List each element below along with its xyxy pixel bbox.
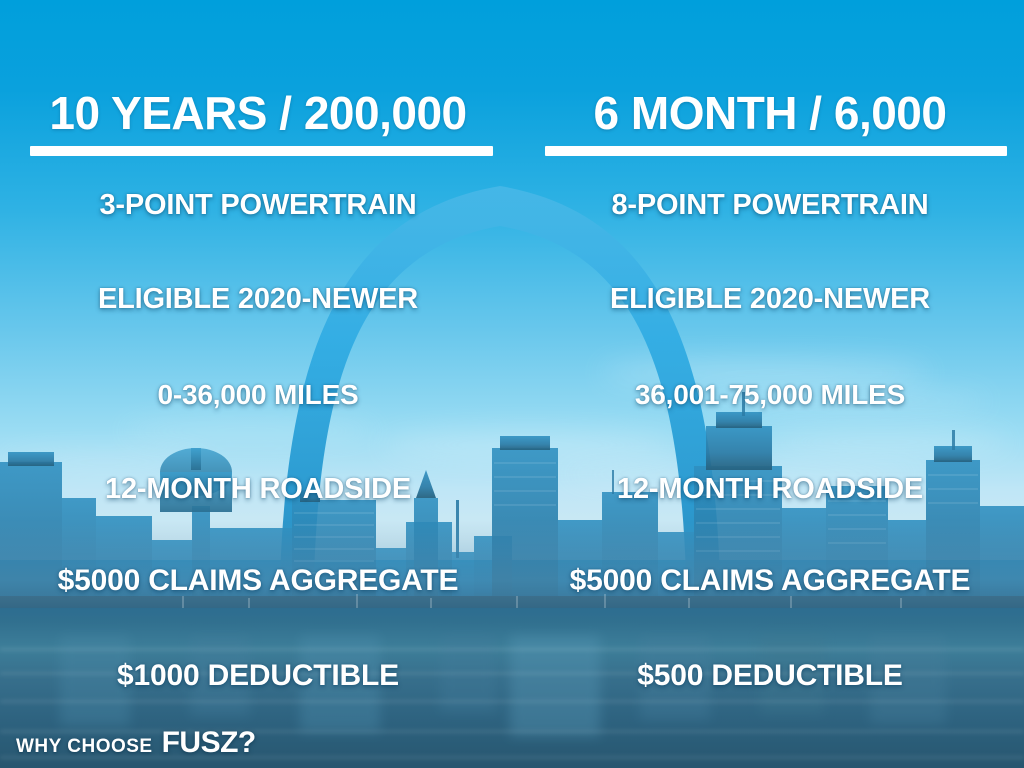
content-overlay: 10 YEARS / 200,000 3-POINT POWERTRAIN EL… <box>0 0 1024 768</box>
heading-underline-left <box>30 146 493 156</box>
plan-column-right: 6 MONTH / 6,000 8-POINT POWERTRAIN ELIGI… <box>516 0 1024 768</box>
brand-lockup: WHY CHOOSE FUSZ? <box>16 726 256 760</box>
feature-left-powertrain: 3-POINT POWERTRAIN <box>0 188 516 222</box>
feature-right-aggregate: $5000 CLAIMS AGGREGATE <box>516 564 1024 598</box>
brand-name: FUSZ? <box>162 726 256 760</box>
feature-left-deductible: $1000 DEDUCTIBLE <box>0 659 516 693</box>
feature-right-deductible: $500 DEDUCTIBLE <box>516 659 1024 693</box>
feature-left-eligibility: ELIGIBLE 2020-NEWER <box>0 282 516 316</box>
promo-slide: 10 YEARS / 200,000 3-POINT POWERTRAIN EL… <box>0 0 1024 768</box>
feature-left-aggregate: $5000 CLAIMS AGGREGATE <box>0 564 516 598</box>
feature-left-mileage: 0-36,000 MILES <box>0 378 516 412</box>
feature-right-mileage: 36,001-75,000 MILES <box>516 378 1024 412</box>
heading-underline-right <box>545 146 1007 156</box>
plan-heading-left: 10 YEARS / 200,000 <box>0 88 516 138</box>
feature-right-eligibility: ELIGIBLE 2020-NEWER <box>516 282 1024 316</box>
brand-tagline: WHY CHOOSE <box>16 736 153 758</box>
plan-column-left: 10 YEARS / 200,000 3-POINT POWERTRAIN EL… <box>0 0 516 768</box>
feature-right-powertrain: 8-POINT POWERTRAIN <box>516 188 1024 222</box>
feature-left-roadside: 12-MONTH ROADSIDE <box>0 472 516 506</box>
plan-heading-right: 6 MONTH / 6,000 <box>516 88 1024 138</box>
feature-right-roadside: 12-MONTH ROADSIDE <box>516 472 1024 506</box>
